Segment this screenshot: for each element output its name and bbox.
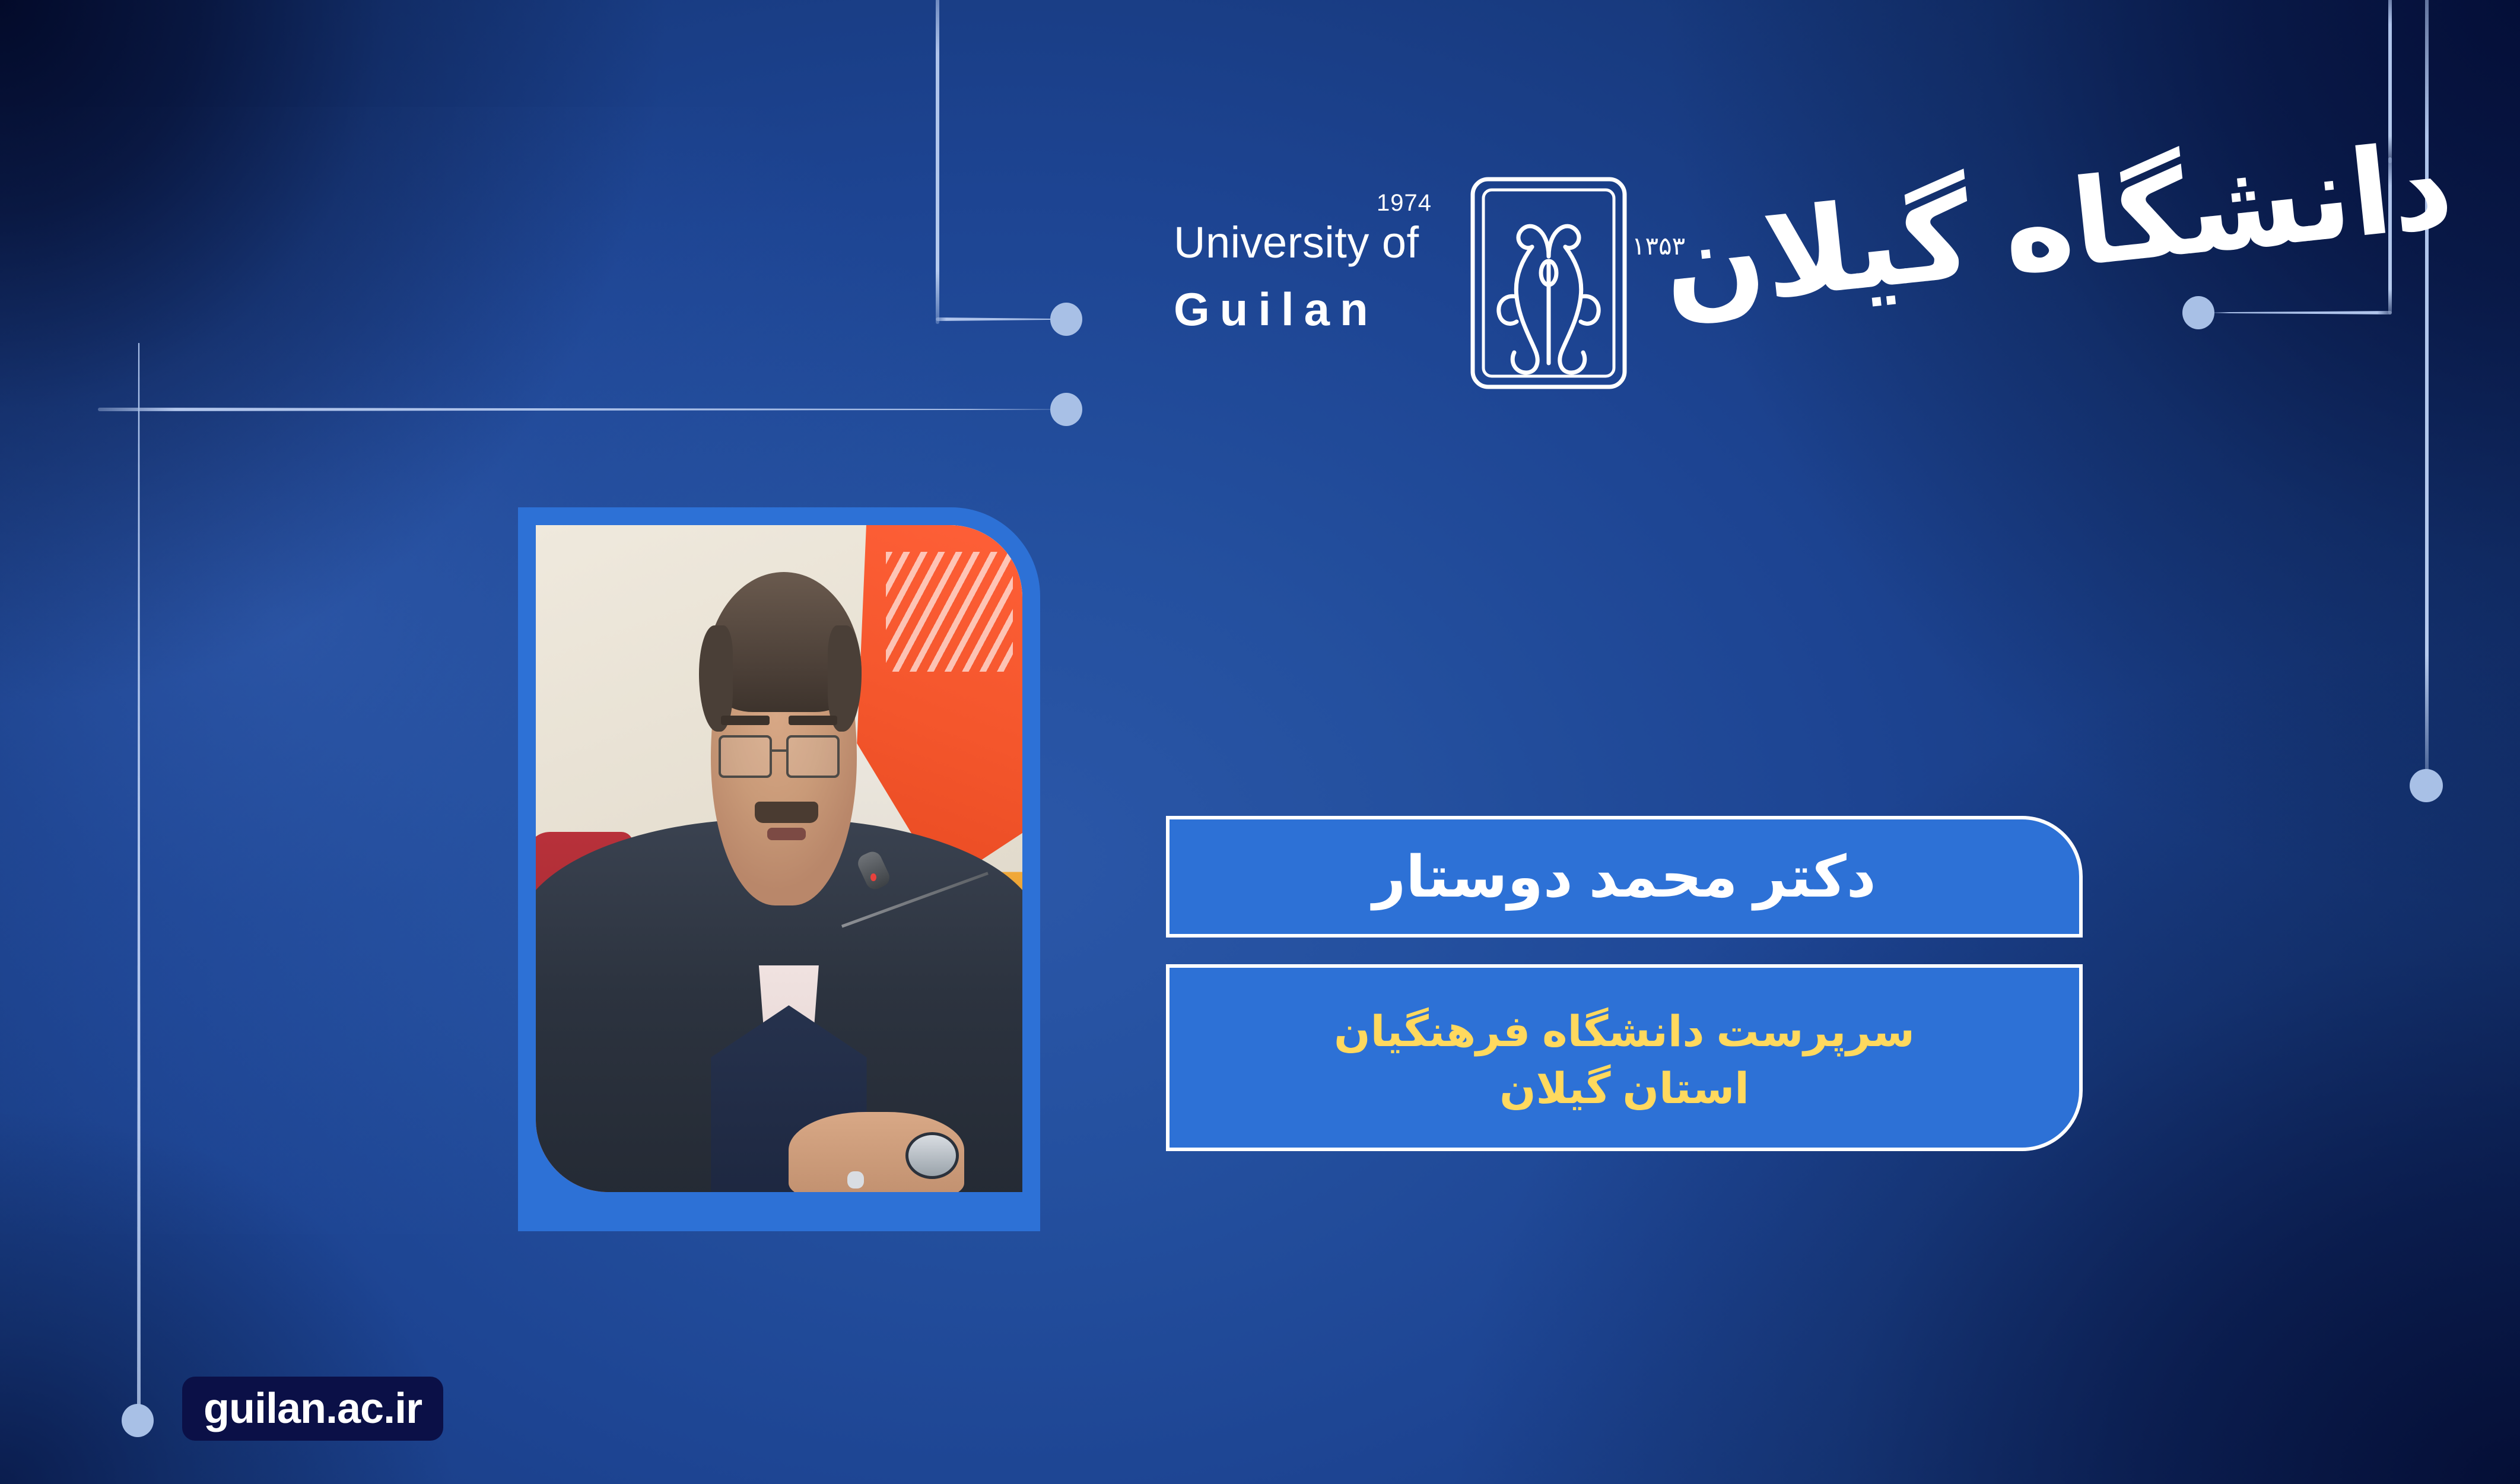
dot-right-lower bbox=[2410, 769, 2443, 802]
photo-ring bbox=[847, 1171, 864, 1189]
photo-eyebrow-right bbox=[789, 716, 837, 725]
website-url: guilan.ac.ir bbox=[204, 1384, 422, 1433]
top-center-vertical-rule bbox=[936, 0, 939, 324]
portrait-frame bbox=[518, 507, 1040, 1231]
photo-flag-script bbox=[886, 552, 1012, 672]
poster-canvas: University of Guilan 1974 ۱۳۵۳ bbox=[0, 0, 2520, 1484]
photo-glasses-right-lens bbox=[786, 735, 840, 778]
photo-mouth bbox=[767, 828, 806, 840]
logo-year-gregorian: 1974 bbox=[1377, 190, 1432, 217]
dot-mid-center bbox=[1050, 393, 1082, 426]
person-role-banner: سرپرست دانشگاه فرهنگیان استان گیلان bbox=[1166, 964, 2083, 1151]
logo-line-guilan: Guilan bbox=[1174, 286, 1464, 332]
person-role-line-1: سرپرست دانشگاه فرهنگیان bbox=[1334, 1004, 1915, 1060]
portrait-photo bbox=[536, 525, 1022, 1192]
person-role-line-2: استان گیلان bbox=[1499, 1061, 1749, 1117]
photo-moustache bbox=[755, 802, 818, 823]
person-name: دکتر محمد دوستار bbox=[1372, 848, 1876, 905]
photo-microphone-led bbox=[870, 873, 876, 881]
logo-english-wordmark: University of Guilan bbox=[1174, 221, 1464, 332]
dot-bottom-left bbox=[122, 1404, 154, 1437]
dot-right-upper bbox=[2182, 296, 2214, 329]
person-name-banner: دکتر محمد دوستار bbox=[1166, 816, 2083, 938]
guilan-emblem-icon bbox=[1460, 173, 1638, 396]
university-logo: University of Guilan 1974 ۱۳۵۳ bbox=[1163, 178, 2089, 398]
logo-line-university-of: University of bbox=[1174, 221, 1464, 265]
photo-eyebrow-left bbox=[721, 716, 770, 725]
dot-upper-center bbox=[1050, 303, 1082, 336]
right-long-vertical-rule bbox=[2425, 0, 2429, 781]
photo-wristwatch bbox=[905, 1132, 959, 1179]
photo-glasses-bridge bbox=[771, 749, 787, 752]
website-badge[interactable]: guilan.ac.ir bbox=[182, 1377, 443, 1441]
photo-glasses-left-lens bbox=[719, 735, 772, 778]
